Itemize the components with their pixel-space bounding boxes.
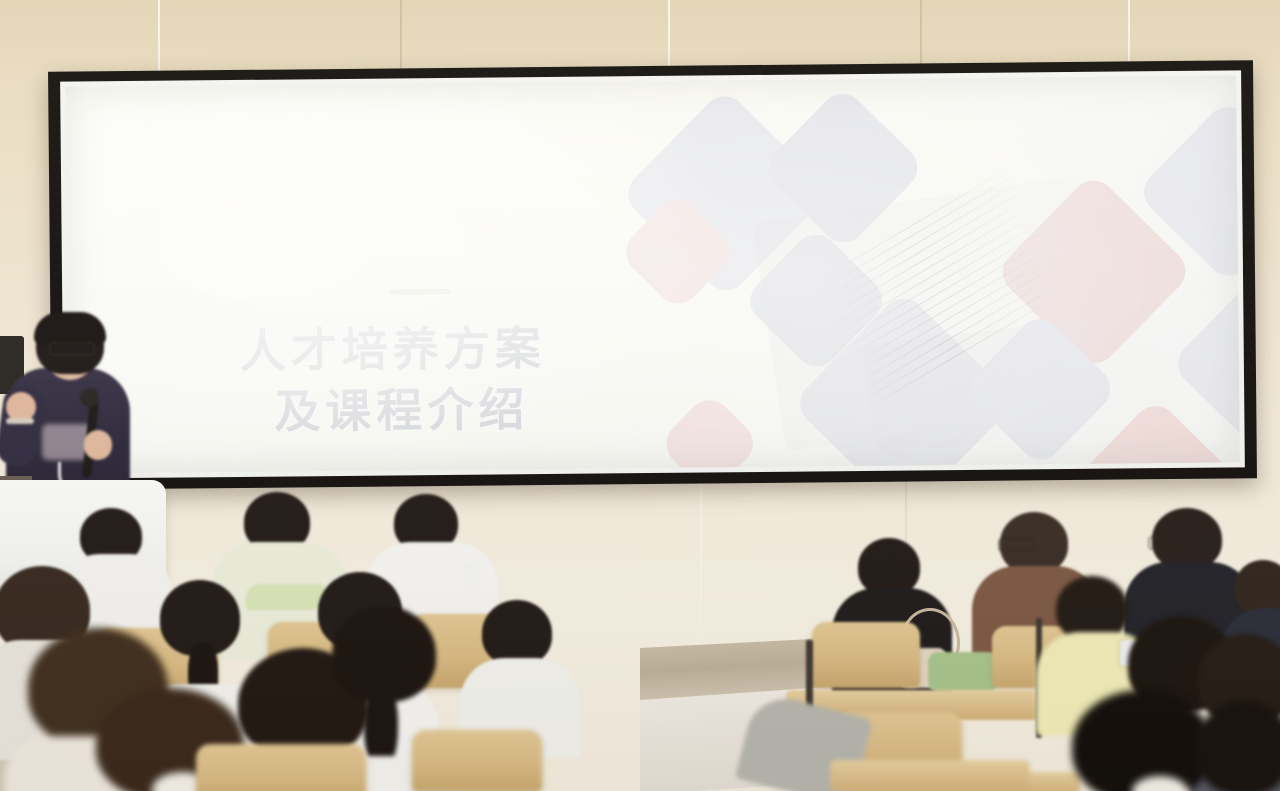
slide-title: 人才培养方案 及课程介绍 [239,317,670,443]
pink-diamond-lower-left [657,391,762,473]
chair [412,730,542,791]
green-bag [928,652,998,692]
projection-screen[interactable]: 人才培养方案 及课程介绍 [48,60,1257,490]
chair [196,744,366,791]
presenter [0,312,150,502]
lecture-hall-scene: 人才培养方案 及课程介绍 [0,0,1280,791]
head [1196,700,1280,791]
screen-bezel: 人才培养方案 及课程介绍 [60,70,1245,478]
head [482,600,552,666]
presenter-fringe [34,312,106,346]
presenter-bracelet [6,418,34,424]
slide-title-line-2: 及课程介绍 [240,378,671,443]
head [1072,690,1212,791]
presenter-hand-right [84,430,112,460]
glasses-icon [49,342,95,356]
slide-title-line-1: 人才培养方案 [239,322,545,377]
slide-surface: 人才培养方案 及课程介绍 [65,75,1240,473]
glasses-icon [1148,536,1186,550]
title-rule [389,289,451,295]
glasses-icon [998,538,1036,552]
chair [812,622,920,688]
chair-desk [830,760,1030,791]
shirt-logo [246,584,324,610]
microphone-head [80,388,99,407]
wall-upper-band [0,0,1280,70]
water-bottle [462,563,478,585]
